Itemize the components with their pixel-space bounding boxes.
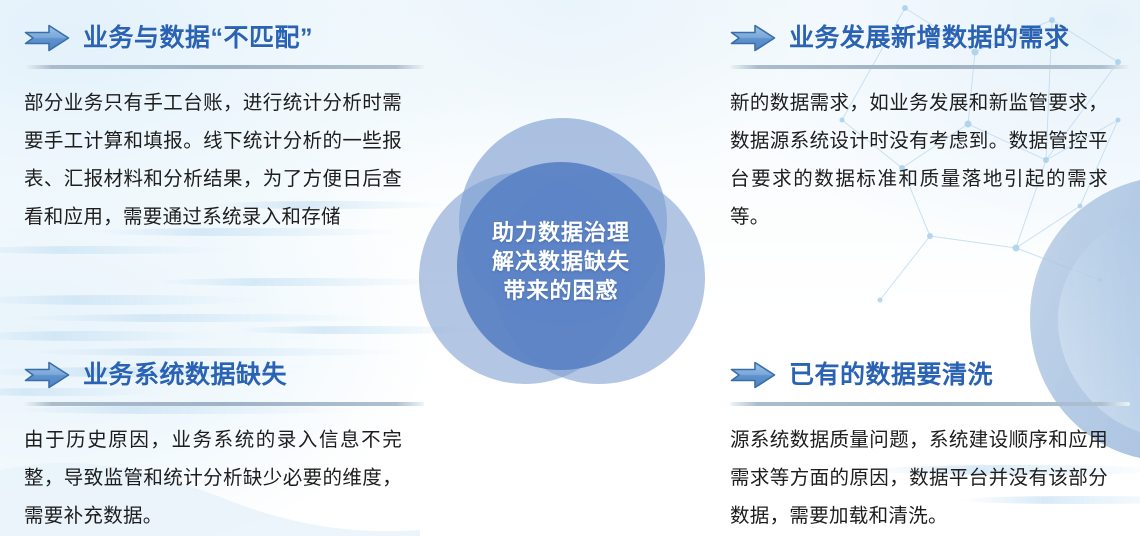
quadrant-header: 业务与数据“不匹配” bbox=[24, 18, 424, 58]
quadrant-bottom-left: 业务系统数据缺失 由于历史原因，业务系统的录入信息不完整，导致监管和统计分析缺少… bbox=[24, 355, 424, 535]
quadrant-divider bbox=[24, 65, 424, 69]
arrow-right-icon bbox=[730, 360, 776, 390]
center-statement-line-2: 解决数据缺失 bbox=[457, 247, 665, 276]
quadrant-title: 业务发展新增数据的需求 bbox=[789, 26, 1070, 51]
quadrant-title: 业务与数据“不匹配” bbox=[83, 26, 313, 51]
quadrant-bottom-right: 已有的数据要清洗 源系统数据质量问题，系统建设顺序和应用需求等方面的原因，数据平… bbox=[730, 355, 1130, 535]
quadrant-divider bbox=[730, 402, 1130, 406]
quadrant-divider bbox=[730, 65, 1130, 69]
arrow-right-icon bbox=[730, 23, 776, 53]
quadrant-top-right: 业务发展新增数据的需求 新的数据需求，如业务发展和新监管要求，数据源系统设计时没… bbox=[730, 18, 1130, 236]
quadrant-header: 已有的数据要清洗 bbox=[730, 355, 1130, 395]
quadrant-body: 源系统数据质量问题，系统建设顺序和应用需求等方面的原因，数据平台并没有该部分数据… bbox=[730, 421, 1108, 535]
center-statement-line-3: 带来的困惑 bbox=[457, 276, 665, 305]
quadrant-body: 新的数据需求，如业务发展和新监管要求，数据源系统设计时没有考虑到。数据管控平台要… bbox=[730, 84, 1108, 236]
quadrant-top-left: 业务与数据“不匹配” 部分业务只有手工台账，进行统计分析时需要手工计算和填报。线… bbox=[24, 18, 424, 236]
quadrant-header: 业务发展新增数据的需求 bbox=[730, 18, 1130, 58]
arrow-right-icon bbox=[24, 360, 70, 390]
quadrant-header: 业务系统数据缺失 bbox=[24, 355, 424, 395]
center-circle-group: 助力数据治理 解决数据缺失 带来的困惑 bbox=[415, 118, 710, 418]
center-statement-line-1: 助力数据治理 bbox=[457, 218, 665, 247]
center-statement: 助力数据治理 解决数据缺失 带来的困惑 bbox=[457, 218, 665, 305]
arrow-right-icon bbox=[24, 23, 70, 53]
infographic-canvas: 业务与数据“不匹配” 部分业务只有手工台账，进行统计分析时需要手工计算和填报。线… bbox=[0, 0, 1140, 536]
quadrant-body: 由于历史原因，业务系统的录入信息不完整，导致监管和统计分析缺少必要的维度，需要补… bbox=[24, 421, 402, 535]
quadrant-body: 部分业务只有手工台账，进行统计分析时需要手工计算和填报。线下统计分析的一些报表、… bbox=[24, 84, 402, 236]
quadrant-title: 已有的数据要清洗 bbox=[789, 363, 993, 388]
quadrant-divider bbox=[24, 402, 424, 406]
quadrant-title: 业务系统数据缺失 bbox=[83, 363, 287, 388]
